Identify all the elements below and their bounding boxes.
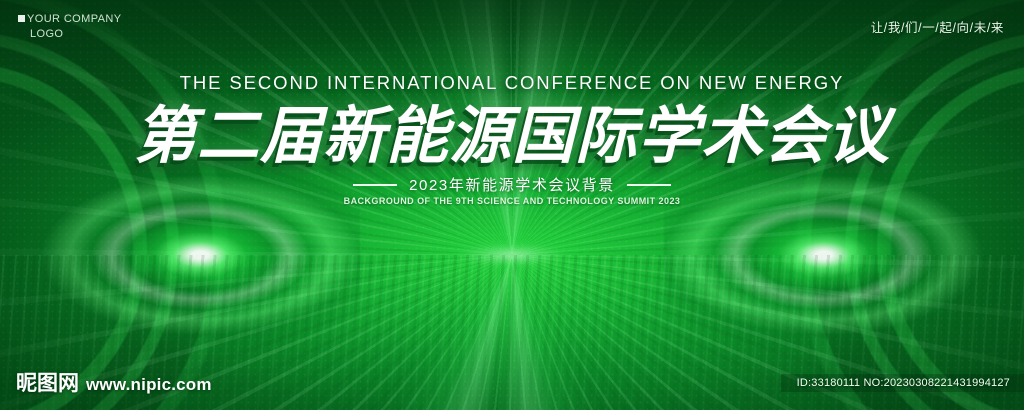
watermark-site-url: www.nipic.com [86,375,212,395]
company-logo-placeholder: YOUR COMPANY LOGO [18,12,121,42]
right-dash-rule [627,184,671,186]
company-logo-line1: YOUR COMPANY [27,13,121,25]
english-subtitle: BACKGROUND OF THE 9TH SCIENCE AND TECHNO… [0,196,1024,206]
subtitle-text: 2023年新能源学术会议背景 [409,174,615,195]
conference-banner: YOUR COMPANY LOGO 让/我/们/一/起/向/未/来 THE SE… [0,0,1024,410]
corner-slogan: 让/我/们/一/起/向/未/来 [871,17,1004,36]
asset-id-label: ID:33180111 NO:20230308221431994127 [781,374,1024,392]
watermark-site-name: 昵图网 [16,367,79,397]
square-logo-mark-icon [18,15,25,22]
left-dash-rule [353,184,397,186]
english-event-title: THE SECOND INTERNATIONAL CONFERENCE ON N… [0,72,1024,94]
site-watermark: 昵图网 www.nipic.com [16,367,212,397]
company-logo-line2: LOGO [18,27,121,42]
subtitle-row: 2023年新能源学术会议背景 [0,174,1024,195]
main-headline: 第二届新能源国际学术会议 [0,104,1024,170]
